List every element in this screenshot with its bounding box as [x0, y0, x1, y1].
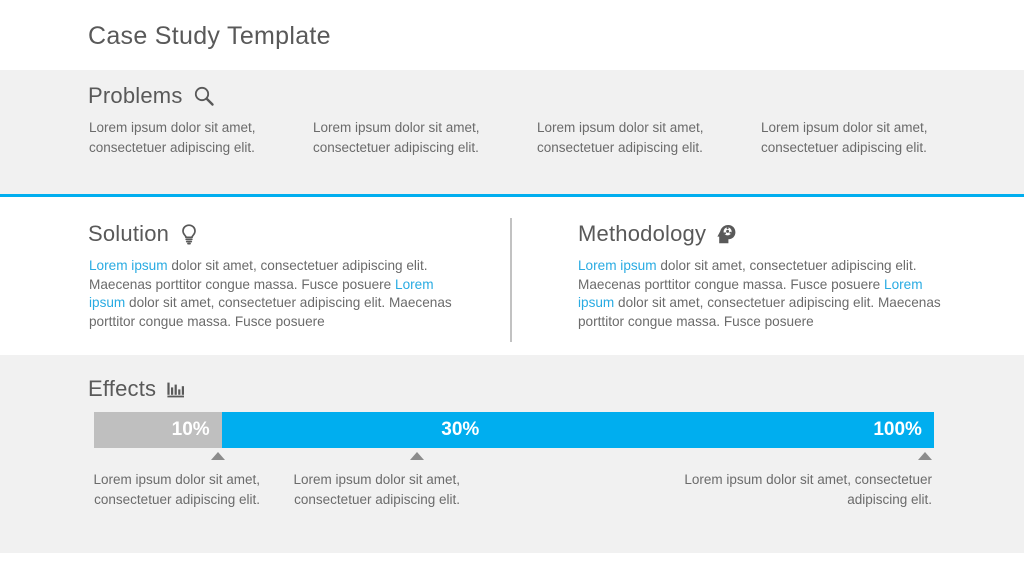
solution-heading: Solution — [88, 221, 169, 247]
problem-column-4: Lorem ipsum dolor sit amet, consectetuer… — [761, 118, 961, 158]
effects-caption-1: Lorem ipsum dolor sit amet, consectetuer… — [28, 470, 260, 510]
methodology-heading-group: Methodology — [578, 221, 738, 247]
bar-segment-2[interactable]: 30% — [222, 412, 492, 448]
head-gear-icon — [716, 223, 738, 245]
effects-caption-3: Lorem ipsum dolor sit amet, consectetuer… — [660, 470, 932, 510]
effects-progress-bar[interactable]: 10% 30% 100% — [94, 412, 934, 448]
lightbulb-icon — [179, 223, 199, 245]
effects-heading: Effects — [88, 376, 156, 402]
effects-heading-group: Effects — [88, 376, 186, 402]
methodology-body: Lorem ipsum dolor sit amet, consectetuer… — [578, 257, 948, 331]
problems-heading: Problems — [88, 83, 183, 109]
methodology-text-2: dolor sit amet, consectetuer adipiscing … — [578, 295, 941, 329]
bar-marker-3 — [918, 452, 932, 460]
effects-caption-2: Lorem ipsum dolor sit amet, consectetuer… — [228, 470, 460, 510]
solution-text-2: dolor sit amet, consectetuer adipiscing … — [89, 295, 452, 329]
bar-segment-3[interactable]: 100% — [491, 412, 934, 448]
solution-heading-group: Solution — [88, 221, 199, 247]
methodology-heading: Methodology — [578, 221, 706, 247]
solution-body: Lorem ipsum dolor sit amet, consectetuer… — [89, 257, 459, 331]
problem-column-2: Lorem ipsum dolor sit amet, consectetuer… — [313, 118, 513, 158]
vertical-divider — [510, 218, 512, 342]
methodology-highlight-1: Lorem ipsum — [578, 258, 657, 273]
bar-chart-icon — [166, 379, 186, 399]
accent-divider — [0, 194, 1024, 197]
slide-canvas: Case Study Template Problems Lorem ipsum… — [0, 0, 1024, 576]
problem-column-3: Lorem ipsum dolor sit amet, consectetuer… — [537, 118, 737, 158]
problems-heading-group: Problems — [88, 83, 215, 109]
bar-marker-1 — [211, 452, 225, 460]
solution-highlight-1: Lorem ipsum — [89, 258, 168, 273]
page-title: Case Study Template — [88, 22, 331, 51]
bar-marker-2 — [410, 452, 424, 460]
problem-column-1: Lorem ipsum dolor sit amet, consectetuer… — [89, 118, 289, 158]
magnifier-icon — [193, 85, 215, 107]
bar-segment-1[interactable]: 10% — [94, 412, 222, 448]
